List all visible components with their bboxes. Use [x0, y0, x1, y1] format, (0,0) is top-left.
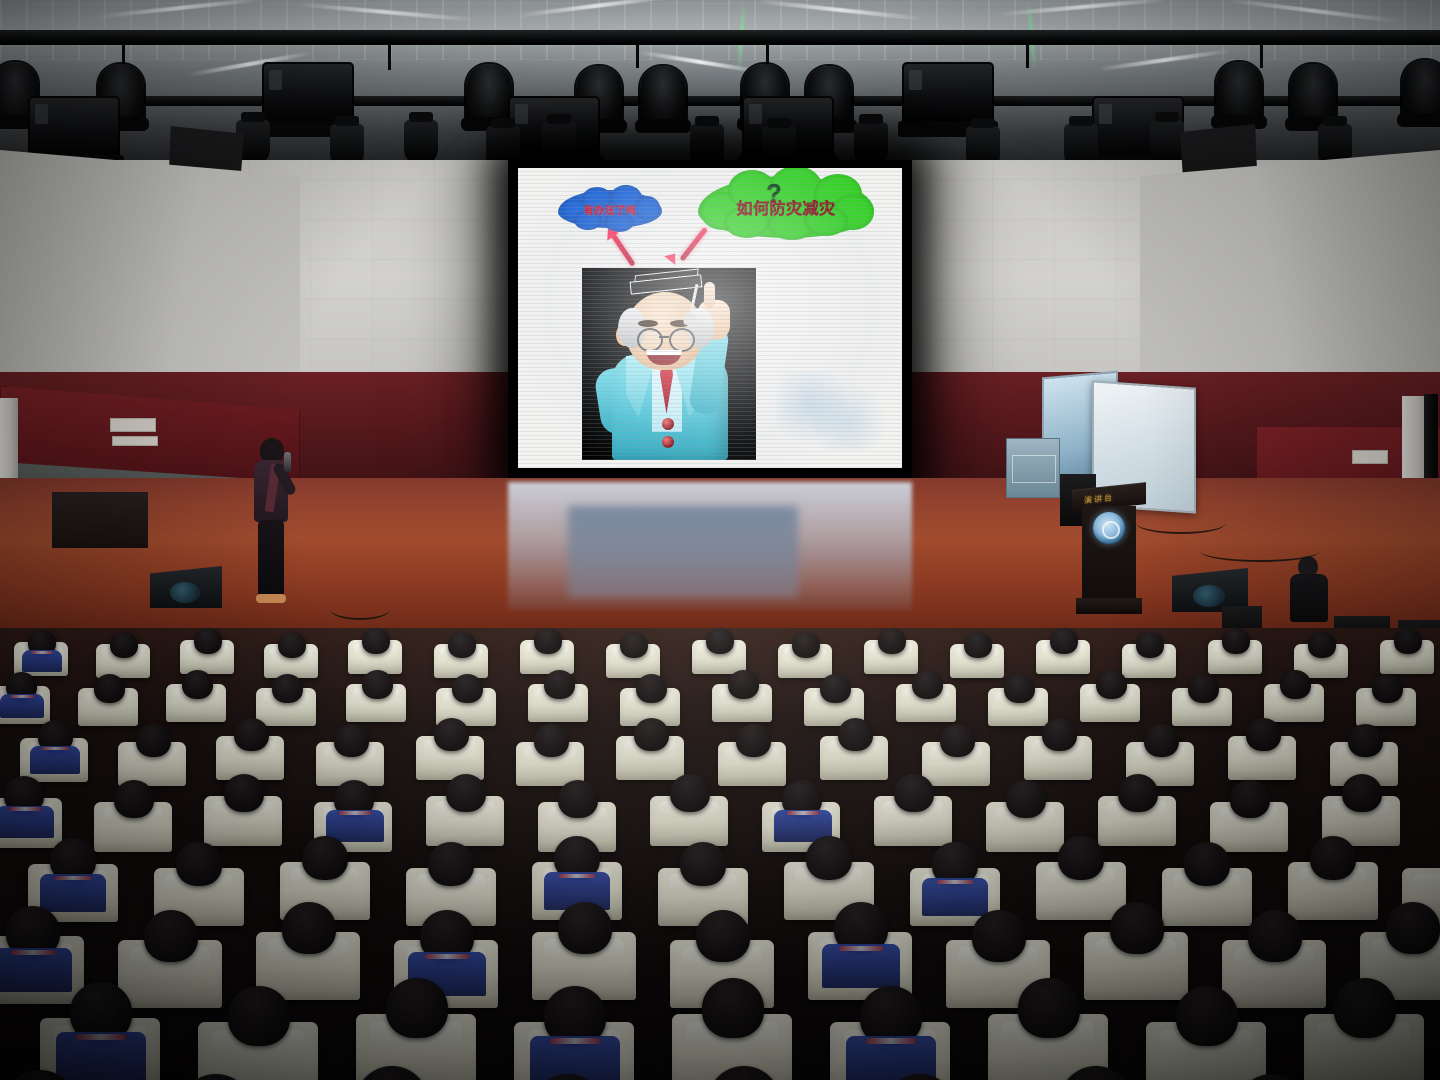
lamp-vent	[35, 104, 48, 124]
student-uniform	[0, 806, 54, 838]
student-head	[838, 718, 873, 751]
equipment-cabinet	[1006, 438, 1060, 498]
student-head	[1004, 674, 1035, 703]
presenter-with-microphone[interactable]	[246, 438, 306, 610]
wall-plaque	[1352, 450, 1388, 464]
student-head	[144, 910, 198, 962]
student-head	[706, 628, 734, 654]
student-head	[362, 628, 390, 654]
student-head	[282, 902, 336, 954]
lectern-base	[1076, 598, 1142, 614]
student-head	[1280, 670, 1311, 699]
lamp-vent	[515, 104, 528, 124]
lamp-vent	[749, 104, 762, 124]
student-head	[1042, 718, 1077, 751]
stage-cable	[1136, 512, 1226, 534]
lamp-hanger	[636, 44, 639, 68]
student-head	[792, 632, 820, 658]
fresnel-stage-light	[28, 96, 120, 160]
student-head	[1308, 632, 1336, 658]
cartoon-professor	[582, 268, 756, 460]
student-head	[1222, 628, 1250, 654]
lamp-vent	[909, 70, 922, 90]
student-head	[912, 670, 943, 699]
stage-equipment-box	[52, 492, 148, 548]
student-head	[680, 842, 726, 886]
par-can-light	[640, 66, 686, 128]
student-head	[1310, 836, 1356, 880]
student-head	[1176, 986, 1238, 1046]
student-head	[1230, 780, 1270, 818]
par-can-light	[1216, 62, 1262, 124]
student-head	[446, 774, 486, 812]
student-head	[806, 836, 852, 880]
student-head	[634, 718, 669, 751]
student-head	[1372, 674, 1403, 703]
lamp-vent	[269, 70, 282, 90]
professor-image-frame	[582, 268, 756, 460]
student-head	[1006, 780, 1046, 818]
seated-staff-member	[1290, 556, 1330, 624]
student-head	[302, 836, 348, 880]
student-head	[534, 724, 569, 757]
par-can-light	[466, 64, 512, 126]
professor-button	[662, 436, 674, 448]
student-head	[386, 978, 448, 1038]
presenter-shoes	[256, 594, 286, 603]
professor-glasses-left	[637, 328, 663, 352]
wall-plaque	[110, 418, 156, 432]
student-head	[234, 718, 269, 751]
student-head	[696, 910, 750, 962]
fresnel-stage-light	[902, 62, 994, 126]
student-head	[136, 724, 171, 757]
student-head	[1188, 674, 1219, 703]
student-uniform	[922, 878, 988, 916]
student-head	[1136, 632, 1164, 658]
school-emblem	[1093, 512, 1125, 544]
moving-head-light	[1150, 120, 1184, 164]
student-head	[558, 902, 612, 954]
student-head	[558, 780, 598, 818]
lamp-hanger	[1026, 44, 1029, 68]
student-uniform	[530, 1036, 620, 1080]
student-uniform	[56, 1032, 146, 1080]
student-uniform	[22, 650, 62, 672]
speaker-cone	[1193, 585, 1225, 607]
student-head	[534, 628, 562, 654]
student-head	[1110, 902, 1164, 954]
pointer-arrow-right	[679, 227, 708, 262]
student-head	[1184, 842, 1230, 886]
student-head	[434, 718, 469, 751]
student-head	[964, 632, 992, 658]
student-head	[110, 632, 138, 658]
student-head	[278, 632, 306, 658]
pointer-arrow-head-right	[664, 249, 681, 265]
student-head	[1386, 902, 1440, 954]
student-head	[1144, 724, 1179, 757]
student-head	[1058, 836, 1104, 880]
speaker-cone	[170, 582, 200, 603]
student-head	[448, 632, 476, 658]
lectern[interactable]: 演讲台	[1078, 486, 1140, 618]
student-audience	[0, 628, 1440, 1080]
led-video-wall[interactable]: 有办法了吗 ? 如何防灾减灾	[508, 160, 912, 482]
student-head	[1348, 724, 1383, 757]
student-uniform	[822, 944, 900, 988]
student-head	[878, 628, 906, 654]
student-head	[114, 780, 154, 818]
professor-button	[662, 418, 674, 430]
student-head	[1050, 628, 1078, 654]
student-head	[452, 674, 483, 703]
truss-beam-front	[0, 30, 1440, 45]
screen-watermark	[776, 372, 886, 450]
student-head	[544, 670, 575, 699]
lamp-hanger	[1260, 44, 1263, 68]
student-head	[820, 674, 851, 703]
lamp-hanger	[388, 44, 391, 70]
student-head	[894, 774, 934, 812]
student-head	[1248, 910, 1302, 962]
student-head	[94, 674, 125, 703]
led-screen-surface: 有办法了吗 ? 如何防灾减灾	[518, 168, 902, 468]
speech-bubble-blue: 有办法了吗	[558, 190, 662, 228]
student-head	[940, 724, 975, 757]
student-head	[194, 628, 222, 654]
student-head	[1246, 718, 1281, 751]
presenter-legs	[258, 520, 284, 598]
student-head	[702, 978, 764, 1038]
student-head	[1394, 628, 1422, 654]
student-head	[224, 774, 264, 812]
student-head	[1334, 978, 1396, 1038]
student-uniform	[30, 746, 80, 774]
student-head	[728, 670, 759, 699]
professor-glasses-bridge	[659, 336, 669, 338]
student-head	[334, 724, 369, 757]
par-can-light	[1402, 60, 1440, 122]
bubble-lobe	[634, 196, 660, 220]
student-head	[182, 670, 213, 699]
stage-cable	[330, 598, 390, 620]
student-head	[1342, 774, 1382, 812]
speech-bubble-green: ? 如何防灾减灾	[698, 176, 874, 238]
wall-plaque	[112, 436, 158, 446]
handheld-microphone	[284, 452, 291, 472]
student-uniform	[0, 694, 44, 718]
student-head	[272, 674, 303, 703]
student-head	[1096, 670, 1127, 699]
student-head	[620, 632, 648, 658]
student-head	[176, 842, 222, 886]
student-head	[1118, 774, 1158, 812]
professor-pointing-finger	[704, 282, 715, 308]
student-head	[1018, 978, 1080, 1038]
moving-head-light	[404, 120, 438, 164]
student-head	[362, 670, 393, 699]
auditorium-scene: 有办法了吗 ? 如何防灾减灾	[0, 0, 1440, 1080]
student-head	[228, 986, 290, 1046]
bubble-green-text: 如何防灾减灾	[736, 195, 835, 219]
student-head	[736, 724, 771, 757]
student-head	[636, 674, 667, 703]
student-head	[670, 774, 710, 812]
bubble-blue-text: 有办法了吗	[584, 202, 637, 217]
student-uniform	[0, 948, 72, 992]
professor-eyebrow-left	[638, 320, 658, 327]
student-head	[428, 842, 474, 886]
professor-glasses-right	[669, 328, 695, 352]
student-head	[972, 910, 1026, 962]
lamp-vent	[1099, 104, 1112, 124]
student-uniform	[40, 874, 106, 912]
staff-body	[1290, 574, 1328, 622]
